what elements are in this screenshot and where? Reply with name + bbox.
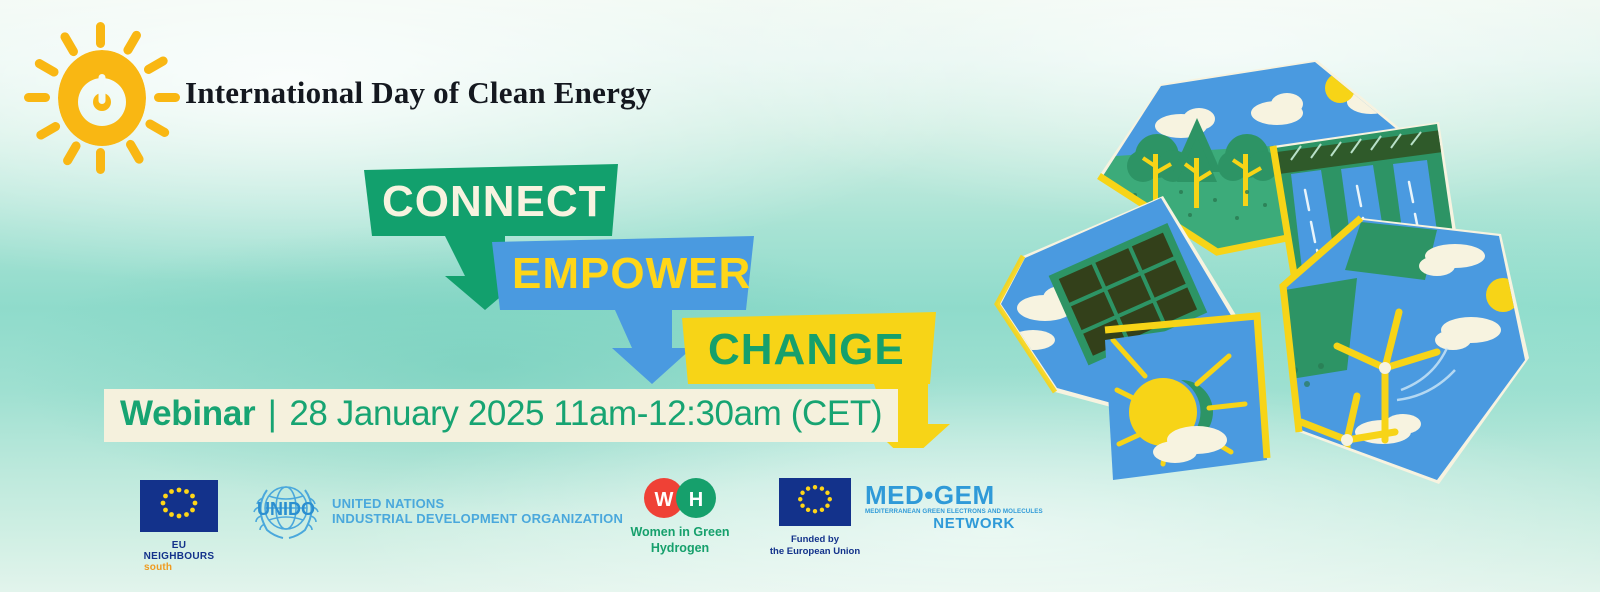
webinar-label: Webinar bbox=[120, 394, 255, 433]
webinar-separator: | bbox=[260, 394, 285, 433]
empower-band bbox=[492, 236, 754, 310]
wgh-line2: Hydrogen bbox=[620, 541, 740, 557]
empower-arrow-icon bbox=[612, 310, 692, 384]
funded-line1: Funded by bbox=[765, 534, 865, 546]
unido-line2: INDUSTRIAL DEVELOPMENT ORGANIZATION bbox=[332, 511, 623, 526]
unido-line1: UNITED NATIONS bbox=[332, 496, 623, 511]
logo-funded-by-eu: Funded by the European Union bbox=[765, 478, 865, 558]
logo-women-in-green-hydrogen: W H Women in Green Hydrogen bbox=[620, 476, 740, 556]
wh-badge-h: H bbox=[689, 489, 703, 511]
logo-eu-neighbours-south: EU NEIGHBOURS south bbox=[140, 480, 228, 573]
eu-south-label: south bbox=[140, 562, 218, 573]
webinar-info-band: Webinar | 28 January 2025 11am-12:30am (… bbox=[104, 389, 898, 442]
unido-wordmark: UNIDO bbox=[257, 499, 315, 519]
funded-line2: the European Union bbox=[765, 546, 865, 558]
webinar-datetime: 28 January 2025 11am-12:30am (CET) bbox=[289, 394, 882, 433]
wind-segment bbox=[1275, 210, 1545, 500]
eu-flag-icon bbox=[140, 480, 218, 532]
page-title: International Day of Clean Energy bbox=[185, 75, 651, 111]
recycling-clean-energy-illustration bbox=[985, 40, 1545, 560]
wh-molecule-icon: W H bbox=[620, 476, 740, 520]
eu-flag-icon bbox=[779, 478, 851, 526]
connect-band bbox=[364, 164, 618, 236]
poster-canvas: International Day of Clean Energy CONNEC… bbox=[0, 0, 1600, 592]
unido-globe-laurel-icon: UNIDO bbox=[250, 478, 322, 544]
logo-unido: UNIDO UNITED NATIONS INDUSTRIAL DEVELOPM… bbox=[250, 478, 623, 544]
eu-neighbours-label: EU NEIGHBOURS bbox=[140, 540, 218, 562]
wgh-line1: Women in Green bbox=[620, 525, 740, 541]
change-band bbox=[682, 312, 936, 384]
sun-power-icon bbox=[24, 22, 180, 174]
wh-badge-w: W bbox=[655, 489, 674, 511]
